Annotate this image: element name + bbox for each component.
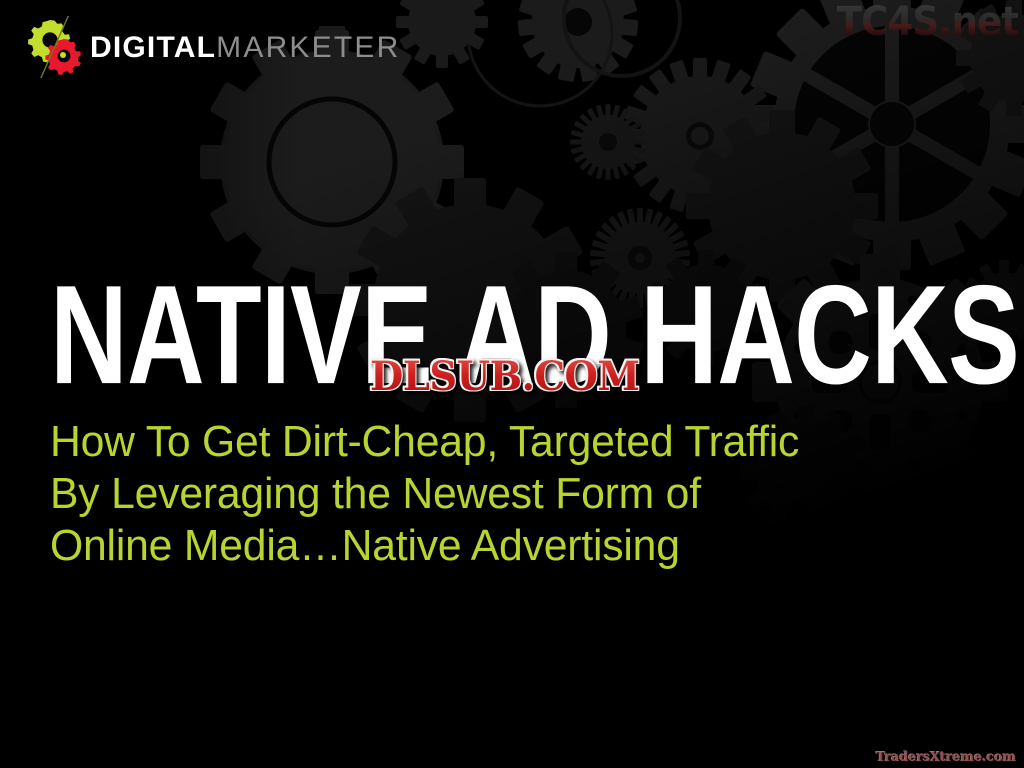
two-gears-logo-icon	[26, 16, 88, 78]
logo-light-text: MARKETER	[216, 31, 400, 64]
subtitle-block: How To Get Dirt-Cheap, Targeted Traffic …	[50, 416, 930, 572]
subtitle-line-3: Online Media…Native Advertising	[50, 520, 904, 572]
subtitle-line-1: How To Get Dirt-Cheap, Targeted Traffic	[50, 416, 904, 468]
tc4s-watermark: TC4S.net	[836, 2, 1018, 42]
digital-marketer-logo[interactable]: DIGITALMARKETER	[26, 16, 400, 78]
tradersxtreme-watermark: TradersXtreme.com	[876, 751, 1016, 764]
logo-bold-text: DIGITAL	[90, 31, 216, 64]
subtitle-line-2: By Leveraging the Newest Form of	[50, 468, 904, 520]
presentation-slide: DIGITALMARKETER TC4S.net NATIVE AD HACKS…	[0, 0, 1024, 768]
dlsub-watermark: DLSUB.COM	[370, 357, 640, 397]
logo-wordmark: DIGITALMARKETER	[90, 33, 400, 63]
